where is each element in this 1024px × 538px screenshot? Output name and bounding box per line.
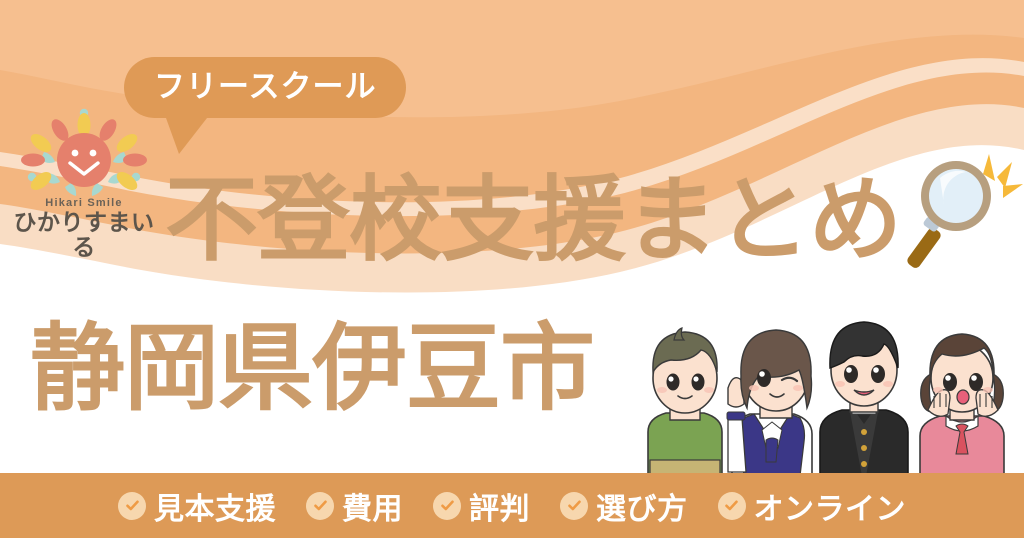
page-title-line1: 不登校支援まとめ: [165, 174, 901, 267]
sun-smile-logo-icon: [8, 105, 160, 203]
check-circle-icon: [118, 492, 146, 520]
tag-item[interactable]: 評判: [433, 484, 530, 528]
character-girl-pink: [920, 334, 1004, 476]
brand-name-jp: ひかりすまいる: [8, 210, 160, 261]
tag-label: 見本支援: [154, 484, 276, 528]
category-badge[interactable]: フリースクール: [124, 57, 406, 118]
character-boy-gakuran: [820, 322, 908, 476]
tag-label: オンライン: [754, 484, 907, 528]
tag-item[interactable]: 見本支援: [118, 484, 276, 528]
tag-item[interactable]: 選び方: [560, 484, 688, 528]
brand-name-en: Hikari Smile: [8, 197, 160, 209]
logo-face: [57, 133, 111, 187]
tag-label: 評判: [469, 484, 530, 528]
tag-bar: 見本支援 費用 評判 選び方 オンライン: [0, 473, 1024, 538]
badge-tail: [166, 118, 207, 154]
check-circle-icon: [718, 492, 746, 520]
magnifying-glass-icon: [893, 140, 1024, 280]
character-girl-sailor: [727, 330, 812, 476]
tag-item[interactable]: 費用: [306, 484, 403, 528]
character-boy-green: [648, 328, 722, 476]
tag-item[interactable]: オンライン: [718, 484, 907, 528]
check-circle-icon: [560, 492, 588, 520]
banner-root: Hikari Smile ひかりすまいる フリースクール 不登校支援まとめ 静岡…: [0, 0, 1024, 538]
tag-label: 選び方: [596, 484, 688, 528]
page-title-line2: 静岡県伊豆市: [30, 322, 594, 417]
category-badge-label: フリースクール: [124, 57, 406, 118]
four-students-illustration: [628, 300, 1024, 476]
brand-logo: Hikari Smile ひかりすまいる: [8, 105, 160, 261]
check-circle-icon: [306, 492, 334, 520]
check-circle-icon: [433, 492, 461, 520]
tag-label: 費用: [342, 484, 403, 528]
